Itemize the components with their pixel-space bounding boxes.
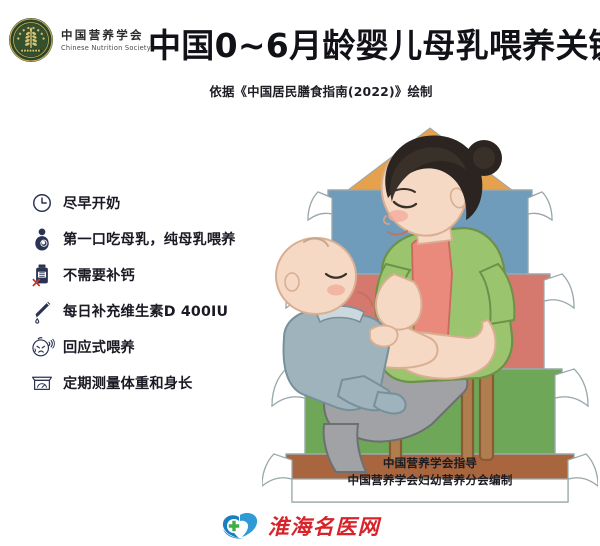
recommendation-list: 尽早开奶 第一口吃母乳，纯母乳喂养 不需 [30,190,280,396]
cns-circular-seal-icon [8,17,54,63]
header: 中国营养学会 Chinese Nutrition Society 中国0~6月龄… [0,0,600,78]
page-title: 中国0~6月龄婴儿母乳喂养关键推荐 [148,25,596,66]
crying-baby-icon [30,335,54,359]
list-item: 回应式喂养 [30,334,280,360]
list-item: 每日补充维生素D 400IU [30,298,280,324]
organization-name-cn: 中国营养学会 [61,28,151,42]
list-item-label: 每日补充维生素D 400IU [63,301,228,321]
list-item: 第一口吃母乳，纯母乳喂养 [30,226,280,252]
credit-line-guidance: 中国营养学会指导 [262,455,598,472]
list-item: 尽早开奶 [30,190,280,216]
list-item-label: 第一口吃母乳，纯母乳喂养 [63,229,236,249]
footer-watermark: 淮海名医网 [0,506,600,546]
clock-icon [30,191,54,215]
pill-bottle-no-icon [30,263,54,287]
medical-cross-swoosh-icon [220,512,260,540]
list-item: 定期测量体重和身长 [30,370,280,396]
credits: 中国营养学会指导 中国营养学会妇幼营养分会编制 [262,455,598,490]
breastfeeding-mother-pagoda-illustration [262,124,598,504]
list-item-label: 回应式喂养 [63,337,135,357]
organization-name-block: 中国营养学会 Chinese Nutrition Society [61,28,151,53]
organization-name-en: Chinese Nutrition Society [61,44,151,53]
page-subtitle: 依据《中国居民膳食指南(2022)》绘制 [0,82,600,100]
list-item: 不需要补钙 [30,262,280,288]
watermark-text: 淮海名医网 [268,516,381,537]
list-item-label: 不需要补钙 [63,265,135,285]
organization-brand: 中国营养学会 Chinese Nutrition Society [8,17,151,63]
list-item-label: 尽早开奶 [63,193,121,213]
dropper-icon [30,299,54,323]
breastfeeding-icon [30,227,54,251]
weighing-scale-icon [30,371,54,395]
credit-line-compiler: 中国营养学会妇幼营养分会编制 [262,472,598,489]
list-item-label: 定期测量体重和身长 [63,373,193,393]
